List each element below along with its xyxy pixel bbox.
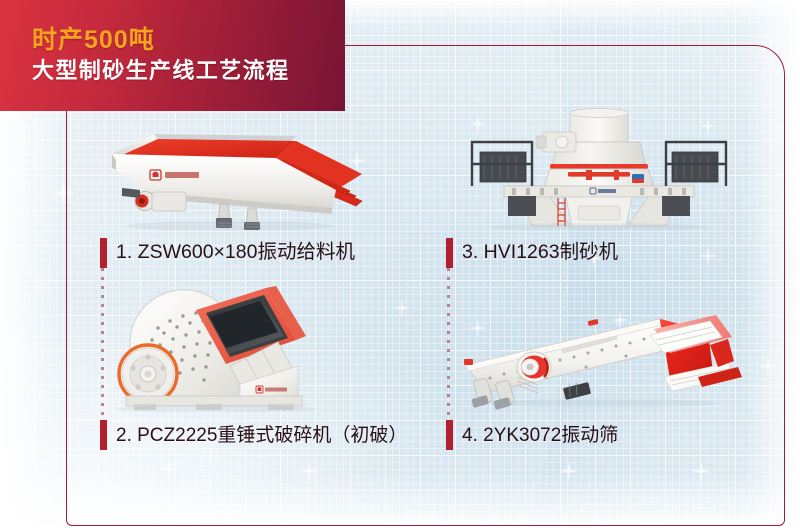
infographic-canvas: 1. ZSW600×180振动给料机	[0, 0, 800, 530]
banner-headline-primary: 时产500吨	[32, 24, 345, 56]
sand-making-machine-illustration	[446, 108, 752, 230]
machine-label-2: 2. PCZ2225重锤式破碎机（初破）	[116, 426, 407, 445]
caption-row: 4. 2YK3072振动筛	[446, 418, 618, 452]
caption-row: 1. ZSW600×180振动给料机	[100, 236, 355, 270]
machine-card-3[interactable]: 3. HVI1263制砂机	[446, 108, 752, 270]
machine-label-3: 3. HVI1263制砂机	[462, 243, 618, 263]
caption-row: 2. PCZ2225重锤式破碎机（初破）	[100, 418, 407, 452]
title-banner: 时产500吨 大型制砂生产线工艺流程	[0, 0, 345, 111]
machine-card-4[interactable]: 4. 2YK3072振动筛	[446, 285, 752, 452]
machine-label-4: 4. 2YK3072振动筛	[462, 426, 618, 445]
machine-card-2[interactable]: 2. PCZ2225重锤式破碎机（初破）	[100, 280, 418, 452]
caption-accent-bar	[446, 238, 453, 268]
caption-row: 3. HVI1263制砂机	[446, 236, 618, 270]
caption-accent-bar	[100, 420, 107, 450]
vibrating-screen-illustration	[446, 285, 752, 412]
machine-card-1[interactable]: 1. ZSW600×180振动给料机	[100, 118, 418, 270]
machine-label-1: 1. ZSW600×180振动给料机	[116, 243, 355, 263]
vibrating-feeder-illustration	[100, 118, 418, 230]
caption-accent-bar	[446, 420, 453, 450]
hammer-crusher-illustration	[100, 280, 418, 412]
caption-accent-bar	[100, 238, 107, 268]
banner-headline-secondary: 大型制砂生产线工艺流程	[32, 56, 345, 86]
